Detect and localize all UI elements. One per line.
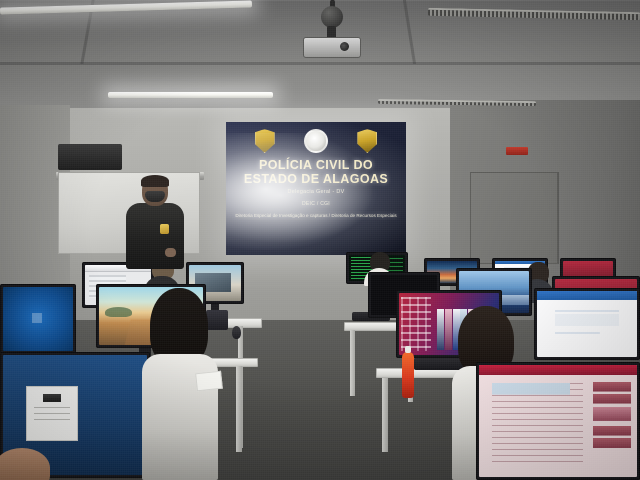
slide-subtitle-2: DEIC / CGI xyxy=(226,201,406,207)
crest-right-shield-icon xyxy=(357,129,377,153)
ceiling-light-mid-left xyxy=(108,92,273,98)
projector-lens xyxy=(340,42,349,51)
desk-leg xyxy=(350,330,355,396)
bottle-cap xyxy=(405,346,411,353)
slide-subtitle-3: Diretoria Especial de Investigação e cap… xyxy=(226,213,406,220)
instructor-uniform xyxy=(126,203,184,269)
instructor-face-mask xyxy=(145,191,165,202)
monitor-browser-light xyxy=(534,288,640,360)
monitor-bezel xyxy=(534,288,640,360)
projector-dome xyxy=(321,6,343,28)
login-text-lines xyxy=(34,407,70,425)
monitor-bezel xyxy=(476,362,640,480)
instructor-badge xyxy=(160,224,169,234)
desk-leg xyxy=(382,378,388,452)
crest-center-seal-icon xyxy=(304,129,328,153)
instructor xyxy=(120,176,190,268)
slide-subtitle-1: Delegacia Geral - DV xyxy=(226,189,406,195)
desk-leg xyxy=(236,366,242,452)
instructor-hair xyxy=(141,175,169,187)
wall-mounted-equipment-box xyxy=(58,144,122,170)
door-frame-edge xyxy=(558,172,559,264)
projected-slide: POLÍCIA CIVIL DO ESTADO DE ALAGOAS Deleg… xyxy=(226,122,406,255)
monitor-screen xyxy=(479,365,637,477)
ceiling-projector xyxy=(303,37,361,58)
mouse xyxy=(232,326,241,339)
slide-title: POLÍCIA CIVIL DO ESTADO DE ALAGOAS xyxy=(226,158,406,186)
monitor-bezel xyxy=(0,284,76,354)
news-article-body xyxy=(492,383,584,466)
ceiling-seam xyxy=(0,0,640,1)
login-logo-icon xyxy=(43,394,61,403)
monitor-screen xyxy=(537,291,637,357)
classroom-photo: POLÍCIA CIVIL DO ESTADO DE ALAGOAS Deleg… xyxy=(0,0,640,480)
slide-title-line2: ESTADO DE ALAGOAS xyxy=(226,172,406,186)
slide-title-line1: POLÍCIA CIVIL DO xyxy=(226,158,406,172)
crest-left-shield-icon xyxy=(255,129,275,153)
slide-crest-row xyxy=(226,129,406,153)
login-dialog xyxy=(26,386,78,441)
monitor-win10-desktop xyxy=(0,284,76,354)
ceiling-beam-horizontal xyxy=(0,62,640,65)
monitor-news-site xyxy=(476,362,640,480)
papers-on-desk xyxy=(195,371,223,392)
instructor-hand xyxy=(165,248,176,257)
wall-door-panel xyxy=(470,172,558,264)
monitor-screen xyxy=(3,287,73,351)
orange-bottle xyxy=(402,352,414,398)
exit-sign xyxy=(506,147,528,155)
